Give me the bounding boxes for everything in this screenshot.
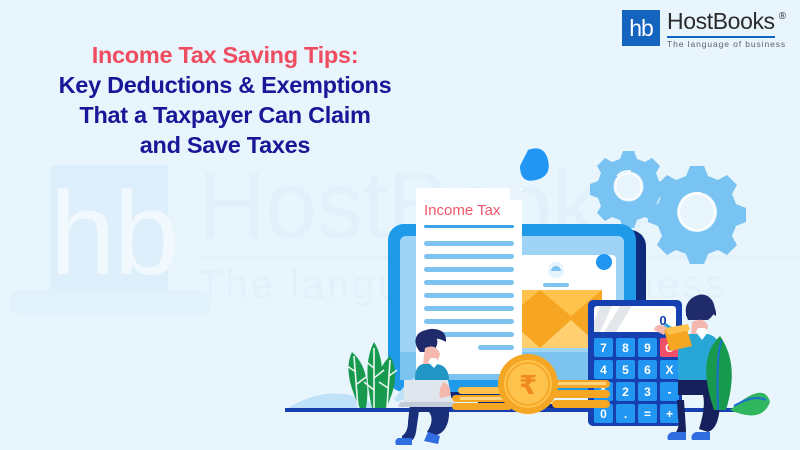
svg-text:=: = [644, 407, 651, 421]
banner: hb HostBooks ® The language of business … [0, 0, 800, 450]
coin-stack-right [552, 380, 610, 408]
svg-text:6: 6 [644, 363, 651, 377]
rupee-symbol: ₹ [519, 371, 537, 401]
gear-large-icon [648, 166, 746, 264]
svg-text:9: 9 [644, 341, 651, 355]
svg-text:0: 0 [600, 407, 607, 421]
svg-text:.: . [624, 407, 627, 421]
hero-illustration: Income Tax [0, 0, 800, 450]
svg-text:4: 4 [600, 363, 607, 377]
plant-right [706, 336, 770, 415]
svg-text:8: 8 [622, 341, 629, 355]
svg-text:-: - [668, 385, 672, 399]
svg-text:7: 7 [600, 341, 607, 355]
svg-text:5: 5 [622, 363, 629, 377]
svg-text:X: X [665, 363, 673, 377]
svg-text:3: 3 [644, 385, 651, 399]
rupee-coin: ₹ [498, 354, 558, 414]
svg-text:+: + [666, 407, 673, 421]
svg-text:2: 2 [622, 385, 629, 399]
document-title: Income Tax [424, 202, 501, 219]
decor-blob [520, 148, 549, 180]
